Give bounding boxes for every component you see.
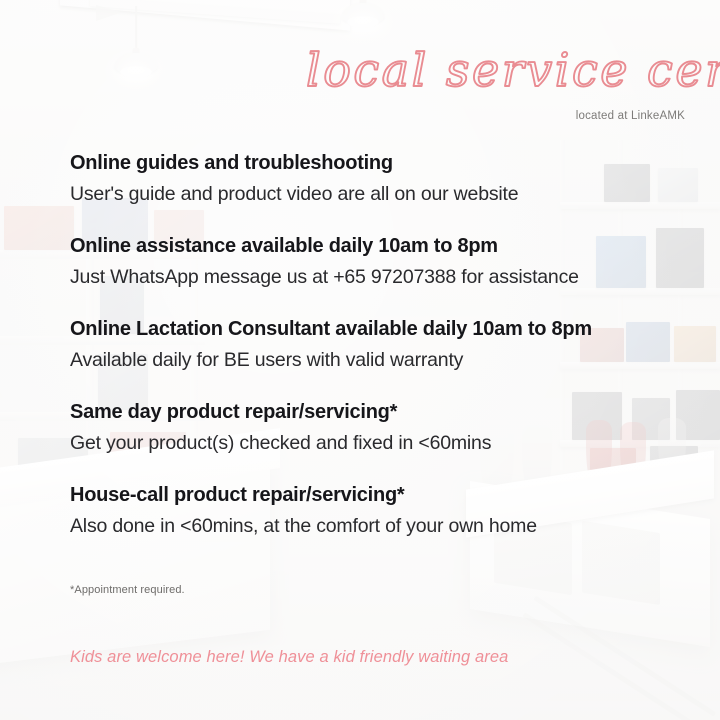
service-heading: Online guides and troubleshooting (70, 152, 690, 176)
service-heading: Same day product repair/servicing* (70, 401, 690, 425)
service-block: Online Lactation Consultant available da… (70, 318, 690, 372)
service-heading: House-call product repair/servicing* (70, 484, 690, 508)
service-subtext: Just WhatsApp message us at +65 97207388… (70, 266, 690, 289)
service-block: Online guides and troubleshooting User's… (70, 152, 690, 206)
brand-script-logo: local service centre (306, 38, 696, 104)
service-subtext: User's guide and product video are all o… (70, 183, 690, 206)
service-heading: Online Lactation Consultant available da… (70, 318, 690, 342)
appointment-footnote: *Appointment required. (70, 584, 185, 596)
poster-canvas: local service centre located at LinkeAMK… (0, 0, 720, 720)
service-subtext: Available daily for BE users with valid … (70, 349, 690, 372)
brand-subtitle: located at LinkeAMK (576, 110, 685, 122)
service-block: Same day product repair/servicing* Get y… (70, 401, 690, 455)
poster-content: local service centre located at LinkeAMK… (0, 0, 720, 720)
brand-script-text: local service centre (306, 43, 720, 97)
service-block: Online assistance available daily 10am t… (70, 235, 690, 289)
service-subtext: Also done in <60mins, at the comfort of … (70, 515, 690, 538)
service-heading: Online assistance available daily 10am t… (70, 235, 690, 259)
service-block: House-call product repair/servicing* Als… (70, 484, 690, 538)
service-subtext: Get your product(s) checked and fixed in… (70, 432, 690, 455)
closing-note: Kids are welcome here! We have a kid fri… (70, 648, 508, 667)
service-list: Online guides and troubleshooting User's… (70, 152, 690, 538)
